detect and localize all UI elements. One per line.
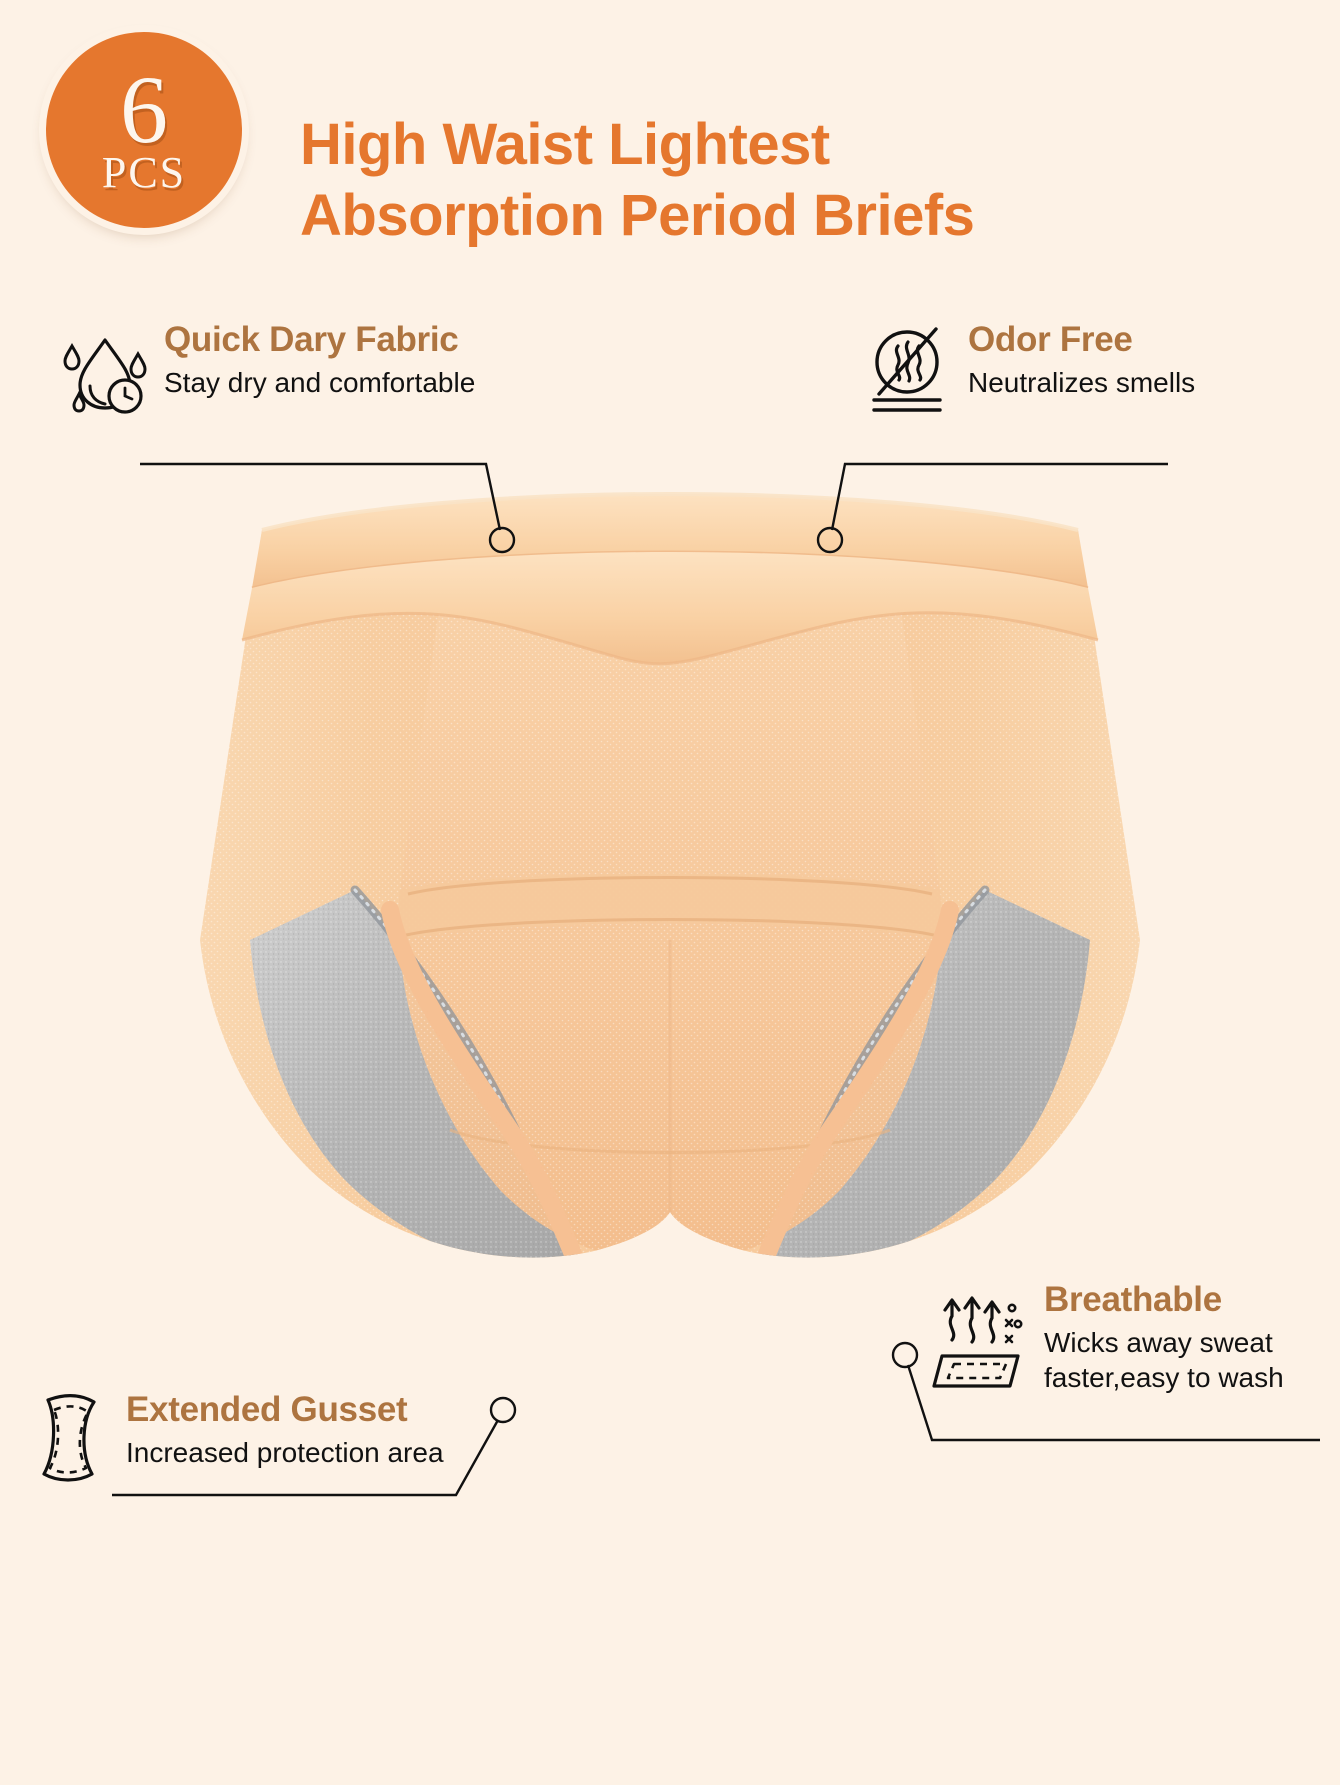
feature-extended-gusset-subtitle: Increased protection area bbox=[126, 1435, 444, 1470]
product-image bbox=[150, 470, 1190, 1400]
feature-odor-free-heading: Odor Free bbox=[968, 320, 1195, 360]
feature-odor-free: Odor Free Neutralizes smells bbox=[862, 320, 1195, 421]
feature-extended-gusset-heading: Extended Gusset bbox=[126, 1390, 444, 1430]
feature-breathable-subtitle: Wicks away sweat faster,easy to wash bbox=[1044, 1325, 1339, 1395]
breathable-arrows-icon bbox=[932, 1280, 1028, 1395]
feature-quick-dry-subtitle: Stay dry and comfortable bbox=[164, 365, 475, 400]
page-title-line1: High Waist Lightest bbox=[300, 112, 830, 177]
pcs-badge: 6 PCS bbox=[46, 32, 242, 228]
water-drop-clock-icon bbox=[62, 320, 148, 421]
feature-quick-dry: Quick Dary Fabric Stay dry and comfortab… bbox=[62, 320, 475, 421]
pcs-badge-unit: PCS bbox=[102, 151, 186, 195]
pcs-badge-count: 6 bbox=[120, 71, 168, 150]
infographic-canvas: 6 PCS High Waist Lightest Absorption Per… bbox=[0, 0, 1340, 1785]
feature-breathable: Breathable Wicks away sweat faster,easy … bbox=[932, 1280, 1339, 1395]
no-odor-icon bbox=[862, 320, 952, 421]
gusset-panel-icon bbox=[24, 1390, 110, 1491]
page-title: High Waist Lightest Absorption Period Br… bbox=[300, 110, 1060, 252]
feature-quick-dry-heading: Quick Dary Fabric bbox=[164, 320, 475, 360]
page-title-line2: Absorption Period Briefs bbox=[300, 181, 1060, 252]
feature-extended-gusset: Extended Gusset Increased protection are… bbox=[24, 1390, 444, 1491]
feature-odor-free-subtitle: Neutralizes smells bbox=[968, 365, 1195, 400]
feature-breathable-heading: Breathable bbox=[1044, 1280, 1339, 1320]
